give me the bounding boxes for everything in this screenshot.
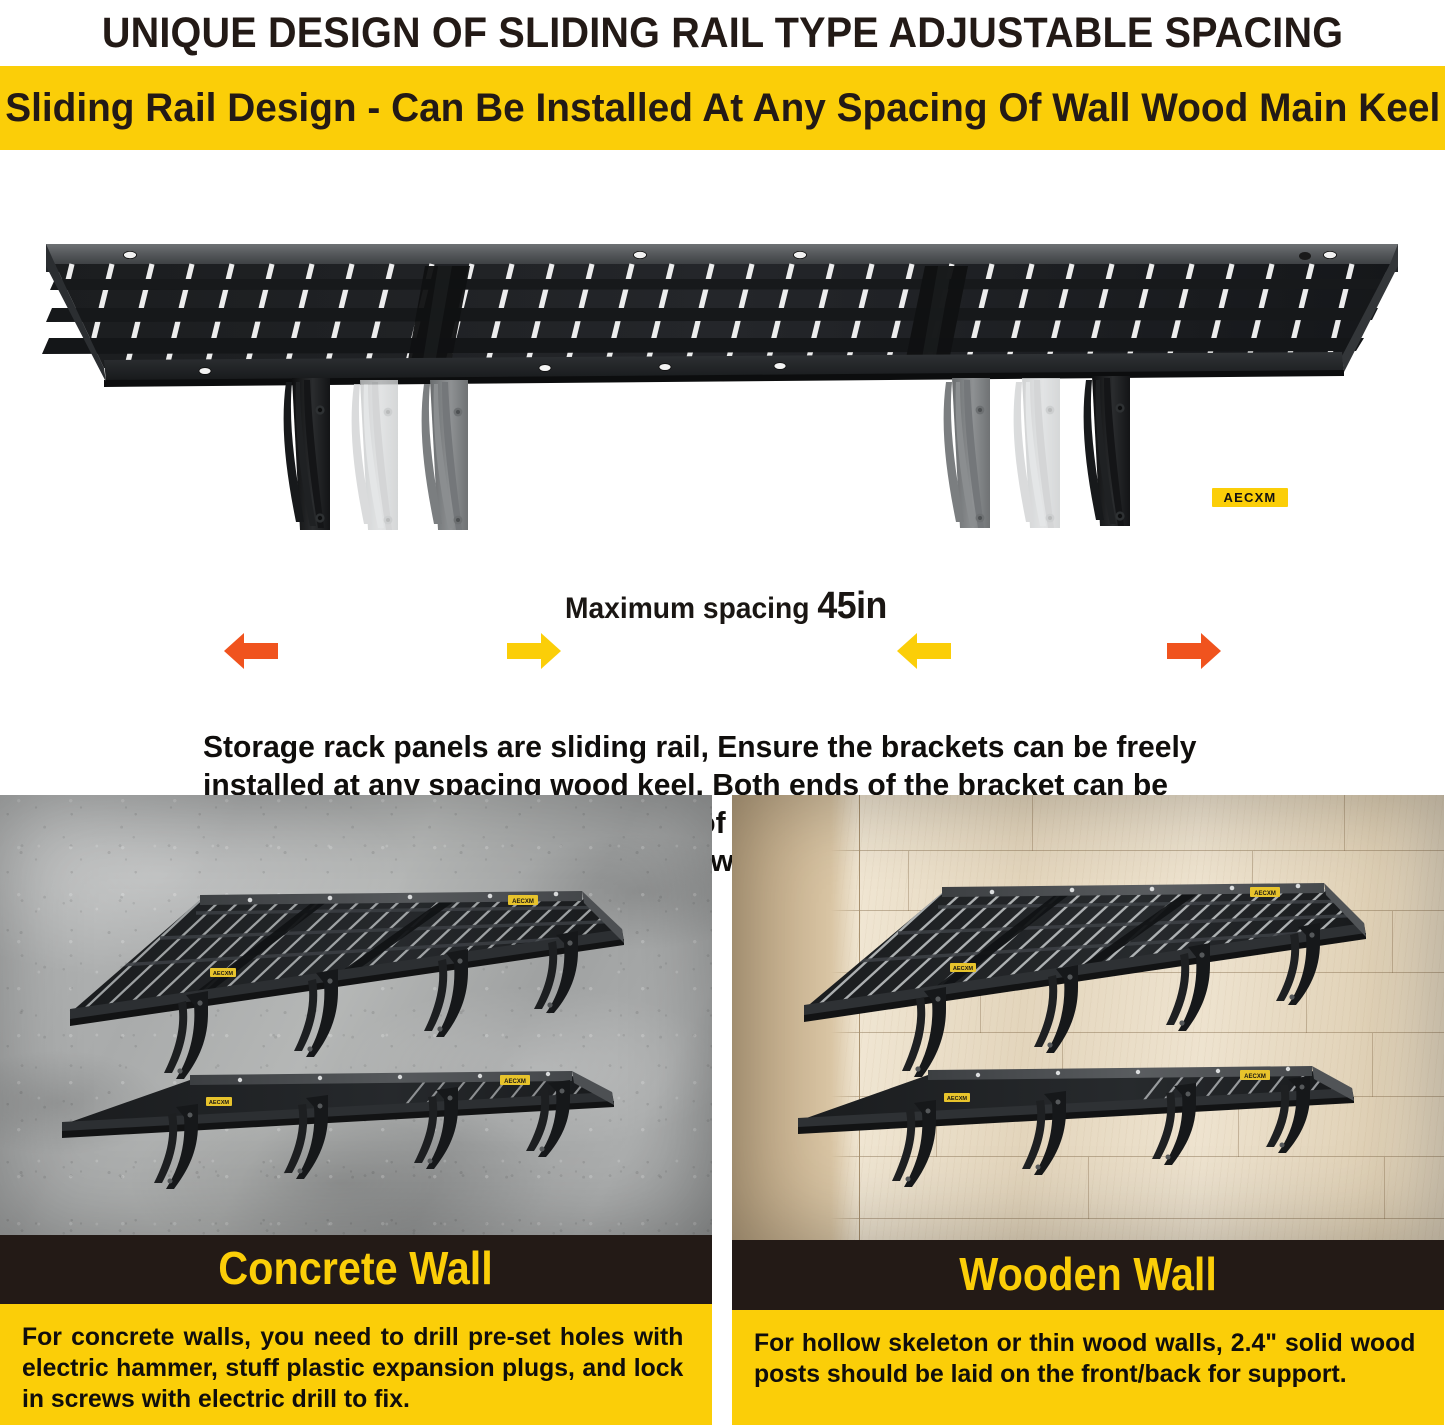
brand-logo-plate: AECXM	[1212, 488, 1288, 507]
panel-wooden-wall: AECXM AECXM	[732, 795, 1444, 1425]
svg-text:AECXM: AECXM	[213, 971, 234, 977]
svg-text:AECXM: AECXM	[1244, 1074, 1266, 1080]
shelf-upper: AECXM AECXM	[804, 883, 1370, 1077]
wooden-wall-title: Wooden Wall	[959, 1251, 1217, 1300]
svg-text:AECXM: AECXM	[504, 1079, 526, 1085]
max-spacing-label: Maximum spacing 45in	[565, 585, 887, 628]
right-outer-arrow	[1165, 628, 1223, 674]
page-title: UNIQUE DESIGN OF SLIDING RAIL TYPE ADJUS…	[58, 0, 1387, 62]
rack-illustration: AECXM	[0, 230, 1445, 530]
wooden-shelves-svg: AECXM AECXM	[732, 795, 1444, 1240]
bracket-right-ghost	[1014, 378, 1060, 528]
subtitle-banner-text: Sliding Rail Design - Can Be Installed A…	[5, 88, 1440, 128]
svg-text:AECXM: AECXM	[209, 1100, 230, 1106]
bracket-right-mid	[944, 378, 990, 528]
concrete-wall-description: For concrete walls, you need to drill pr…	[22, 1322, 683, 1415]
max-spacing-prefix: Maximum spacing	[565, 592, 809, 625]
wooden-wall-photo: AECXM AECXM	[732, 795, 1444, 1240]
bracket-left-mid	[422, 380, 468, 530]
concrete-wall-caption: For concrete walls, you need to drill pr…	[0, 1304, 712, 1425]
svg-text:AECXM: AECXM	[1254, 891, 1276, 897]
max-spacing-value: 45in	[817, 585, 887, 627]
concrete-shelves-svg: AECXM AECXM	[0, 795, 712, 1235]
bracket-left-ghost	[352, 380, 398, 530]
left-outer-arrow	[222, 628, 280, 674]
concrete-wall-title-bar: Concrete Wall	[0, 1235, 712, 1304]
shelf-lower: AECXM AECXM	[798, 1066, 1368, 1187]
bracket-right-solid	[1084, 376, 1130, 526]
right-inner-arrow	[895, 628, 953, 674]
left-inner-arrow	[505, 628, 563, 674]
bracket-left-solid	[284, 378, 330, 530]
concrete-wall-photo: AECXM AECXM	[0, 795, 712, 1235]
svg-text:AECXM: AECXM	[953, 966, 974, 972]
concrete-wall-title: Concrete Wall	[219, 1245, 494, 1294]
wooden-wall-description: For hollow skeleton or thin wood walls, …	[754, 1328, 1415, 1390]
hero-diagram: AECXM Maximum spacing 45in Storage rack …	[0, 150, 1445, 795]
svg-text:AECXM: AECXM	[947, 1096, 968, 1102]
shelf-upper: AECXM AECXM	[70, 891, 628, 1079]
subtitle-banner: Sliding Rail Design - Can Be Installed A…	[0, 66, 1445, 150]
wall-type-panels: AECXM AECXM	[0, 795, 1445, 1425]
svg-text:AECXM: AECXM	[512, 899, 534, 905]
panel-concrete-wall: AECXM AECXM	[0, 795, 712, 1425]
shelf-lower: AECXM AECXM	[62, 1071, 630, 1189]
wooden-wall-title-bar: Wooden Wall	[732, 1240, 1444, 1310]
wooden-wall-caption: For hollow skeleton or thin wood walls, …	[732, 1310, 1444, 1425]
